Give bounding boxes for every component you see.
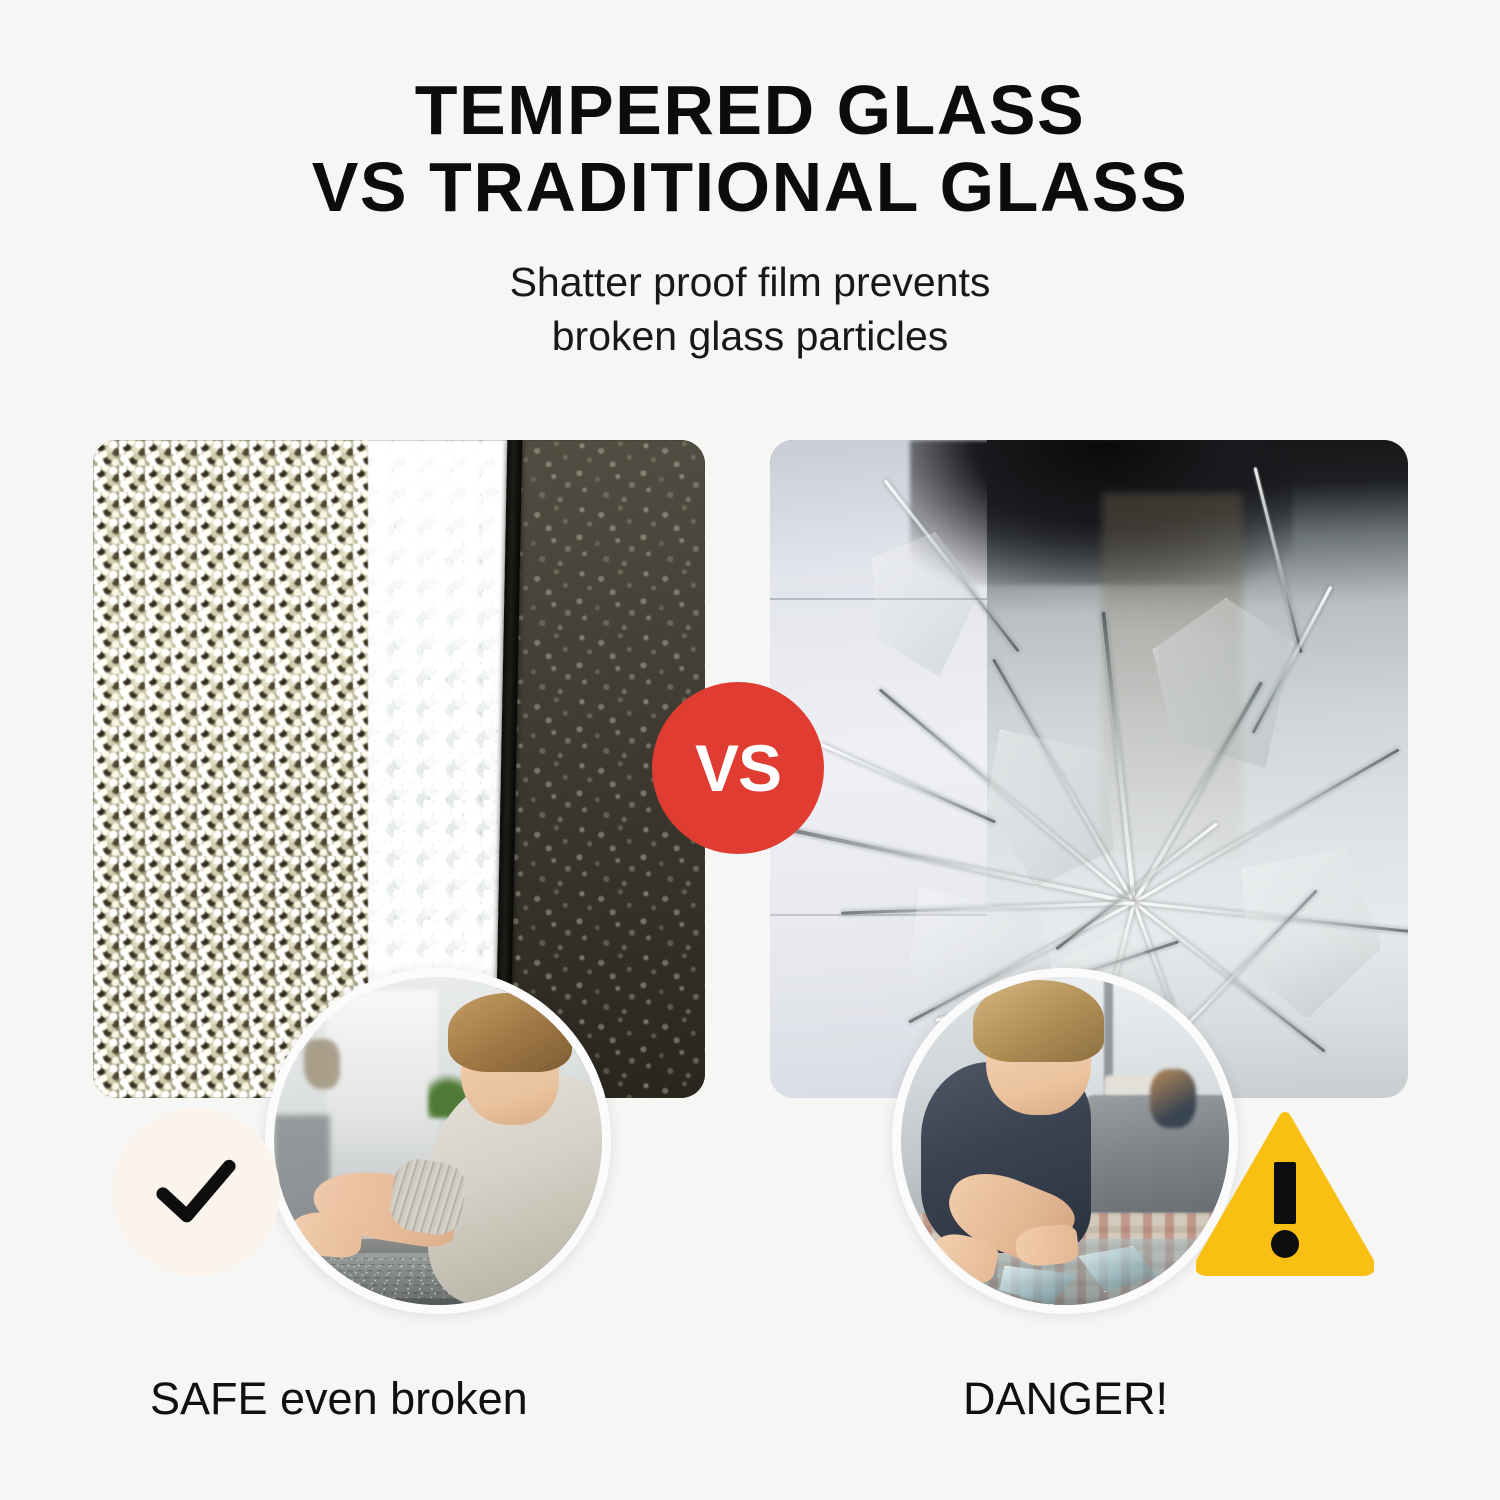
left-caption: SAFE even broken [150,1373,528,1425]
subtitle-line-2: broken glass particles [0,309,1500,363]
title-line-1: TEMPERED GLASS [0,72,1500,149]
vs-badge-label: VS [695,735,781,801]
page-subtitle: Shatter proof film prevents broken glass… [0,255,1500,363]
subtitle-line-1: Shatter proof film prevents [0,255,1500,309]
child-danger-photo [892,968,1238,1314]
toddler-safe-scene [274,977,602,1305]
child-danger-scene [901,977,1229,1305]
page-title: TEMPERED GLASS VS TRADITIONAL GLASS [0,72,1500,226]
right-caption: DANGER! [963,1373,1168,1425]
wall-object [304,1039,340,1088]
background-person [1150,1069,1196,1128]
warning-triangle-icon [1196,1110,1374,1278]
toddler-safe-photo [265,968,611,1314]
toddler-hair [448,993,573,1072]
child-hair [973,980,1104,1062]
check-icon [112,1108,280,1276]
title-line-2: VS TRADITIONAL GLASS [0,149,1500,226]
vs-badge: VS [652,682,824,854]
